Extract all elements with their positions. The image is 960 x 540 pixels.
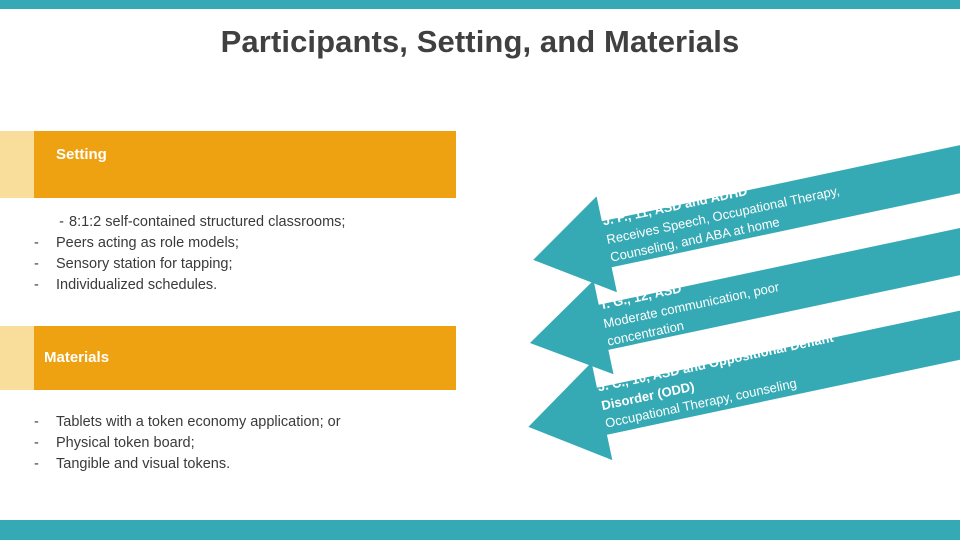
setting-heading: Setting (56, 145, 107, 165)
materials-bullet-list: -Tablets with a token economy applicatio… (34, 412, 464, 475)
list-item: -Sensory station for tapping; (34, 254, 464, 275)
slide-canvas: Participants, Setting, and Materials Set… (0, 0, 960, 540)
list-item-text: Individualized schedules. (56, 277, 217, 293)
materials-heading: Materials (44, 348, 109, 368)
list-item: -8:1:2 self-contained structured classro… (34, 212, 464, 233)
bottom-accent-bar (0, 520, 960, 540)
bullet-dash: - (34, 233, 56, 254)
list-item: -Tablets with a token economy applicatio… (34, 412, 464, 433)
page-title: Participants, Setting, and Materials (60, 22, 900, 62)
bullet-dash: - (34, 254, 56, 275)
bullet-dash: - (34, 412, 56, 433)
top-accent-bar (0, 0, 960, 9)
list-item: -Peers acting as role models; (34, 233, 464, 254)
materials-accent-strip (0, 326, 34, 390)
list-item: -Physical token board; (34, 433, 464, 454)
list-item-text: Tablets with a token economy application… (56, 414, 341, 430)
setting-bullet-list: -8:1:2 self-contained structured classro… (34, 212, 464, 296)
list-item-text: Physical token board; (56, 435, 195, 451)
list-item-text: Peers acting as role models; (56, 235, 239, 251)
bullet-dash: - (34, 454, 56, 475)
list-item-text: 8:1:2 self-contained structured classroo… (69, 214, 345, 230)
list-item: -Individualized schedules. (34, 275, 464, 296)
bullet-dash: - (34, 275, 56, 296)
bullet-dash: - (34, 433, 56, 454)
bullet-dash: - (34, 212, 69, 233)
materials-header-box: Materials (34, 326, 456, 390)
list-item: -Tangible and visual tokens. (34, 454, 464, 475)
setting-header-box: Setting (34, 131, 456, 198)
list-item-text: Sensory station for tapping; (56, 256, 233, 272)
list-item-text: Tangible and visual tokens. (56, 456, 230, 472)
setting-accent-strip (0, 131, 34, 198)
